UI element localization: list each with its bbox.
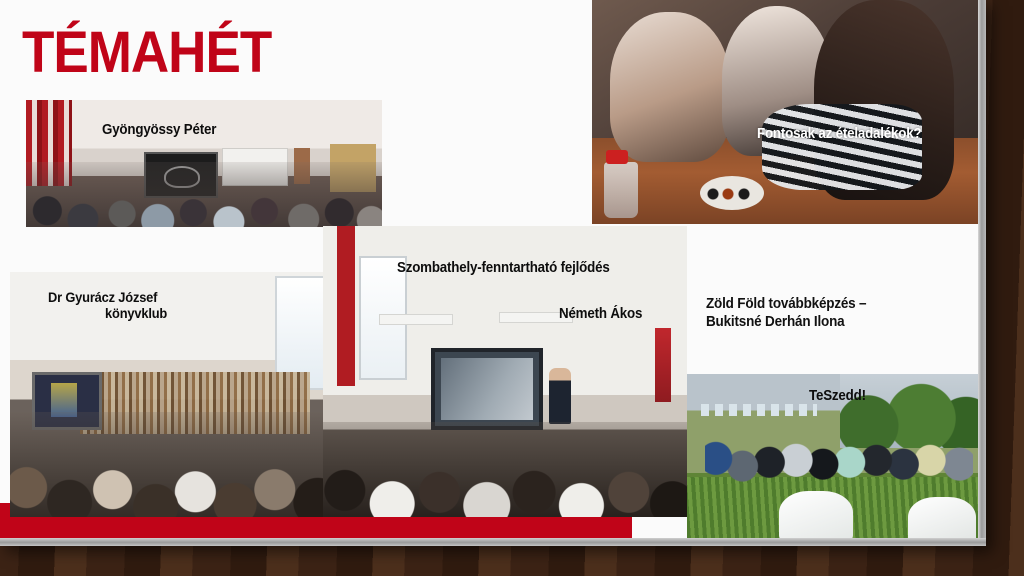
slide-bottom-edge xyxy=(0,538,986,546)
photo-caption: Fontosak az ételadalékok? xyxy=(757,126,921,142)
photo-caption: Dr Gyurácz Józsefkönyvklub xyxy=(48,290,167,321)
curtain-shape xyxy=(337,226,355,386)
photo-gyongyossy-peter[interactable]: Gyöngyössy Péter xyxy=(26,100,382,227)
slide-right-edge xyxy=(978,0,986,546)
projection-screen-shape xyxy=(431,348,543,430)
roll-up-banner-shape xyxy=(655,328,671,402)
ceiling-lamp-shape xyxy=(379,314,453,325)
caption-zold-fold-tovabbkepzes: Zöld Föld továbbképzés – Bukitsné Derhán… xyxy=(706,296,939,331)
palette-shape xyxy=(700,176,764,210)
page-title: TÉMAHÉT xyxy=(22,24,271,82)
audience-shape xyxy=(10,412,341,517)
audience-shape xyxy=(26,162,382,227)
bottle-shape xyxy=(604,162,638,218)
caption-line-2: könyvklub xyxy=(105,306,167,322)
photo-caption-title: Szombathely-fenntartható fejlődés xyxy=(397,260,610,276)
photo-szombathely-fenntarthato-fejlodes[interactable]: Szombathely-fenntartható fejlődés Németh… xyxy=(323,226,687,517)
striped-sleeve-shape xyxy=(762,104,922,190)
rubbish-bag-shape xyxy=(779,491,853,539)
student-shape xyxy=(610,12,730,162)
bottle-cap-shape xyxy=(606,150,628,164)
photo-caption: TeSzedd! xyxy=(809,388,866,404)
photo-dr-gyuracz-jozsef-konyvklub[interactable]: Dr Gyurácz Józsefkönyvklub xyxy=(10,272,341,517)
photo-caption: Gyöngyössy Péter xyxy=(102,122,216,138)
caption-line-1: Dr Gyurácz József xyxy=(48,289,157,305)
presenter-shape xyxy=(549,368,571,424)
presentation-slide: TÉMAHÉT Gyöngyössy Péter Fontosak az éte… xyxy=(0,0,986,546)
audience-shape xyxy=(323,422,687,517)
photo-caption-presenter: Németh Ákos xyxy=(559,306,642,322)
rubbish-bag-shape xyxy=(908,497,976,539)
photo-teszedd[interactable]: TeSzedd! xyxy=(687,374,980,539)
photo-fontosak-az-eteladalekok[interactable]: Fontosak az ételadalékok? xyxy=(592,0,980,224)
